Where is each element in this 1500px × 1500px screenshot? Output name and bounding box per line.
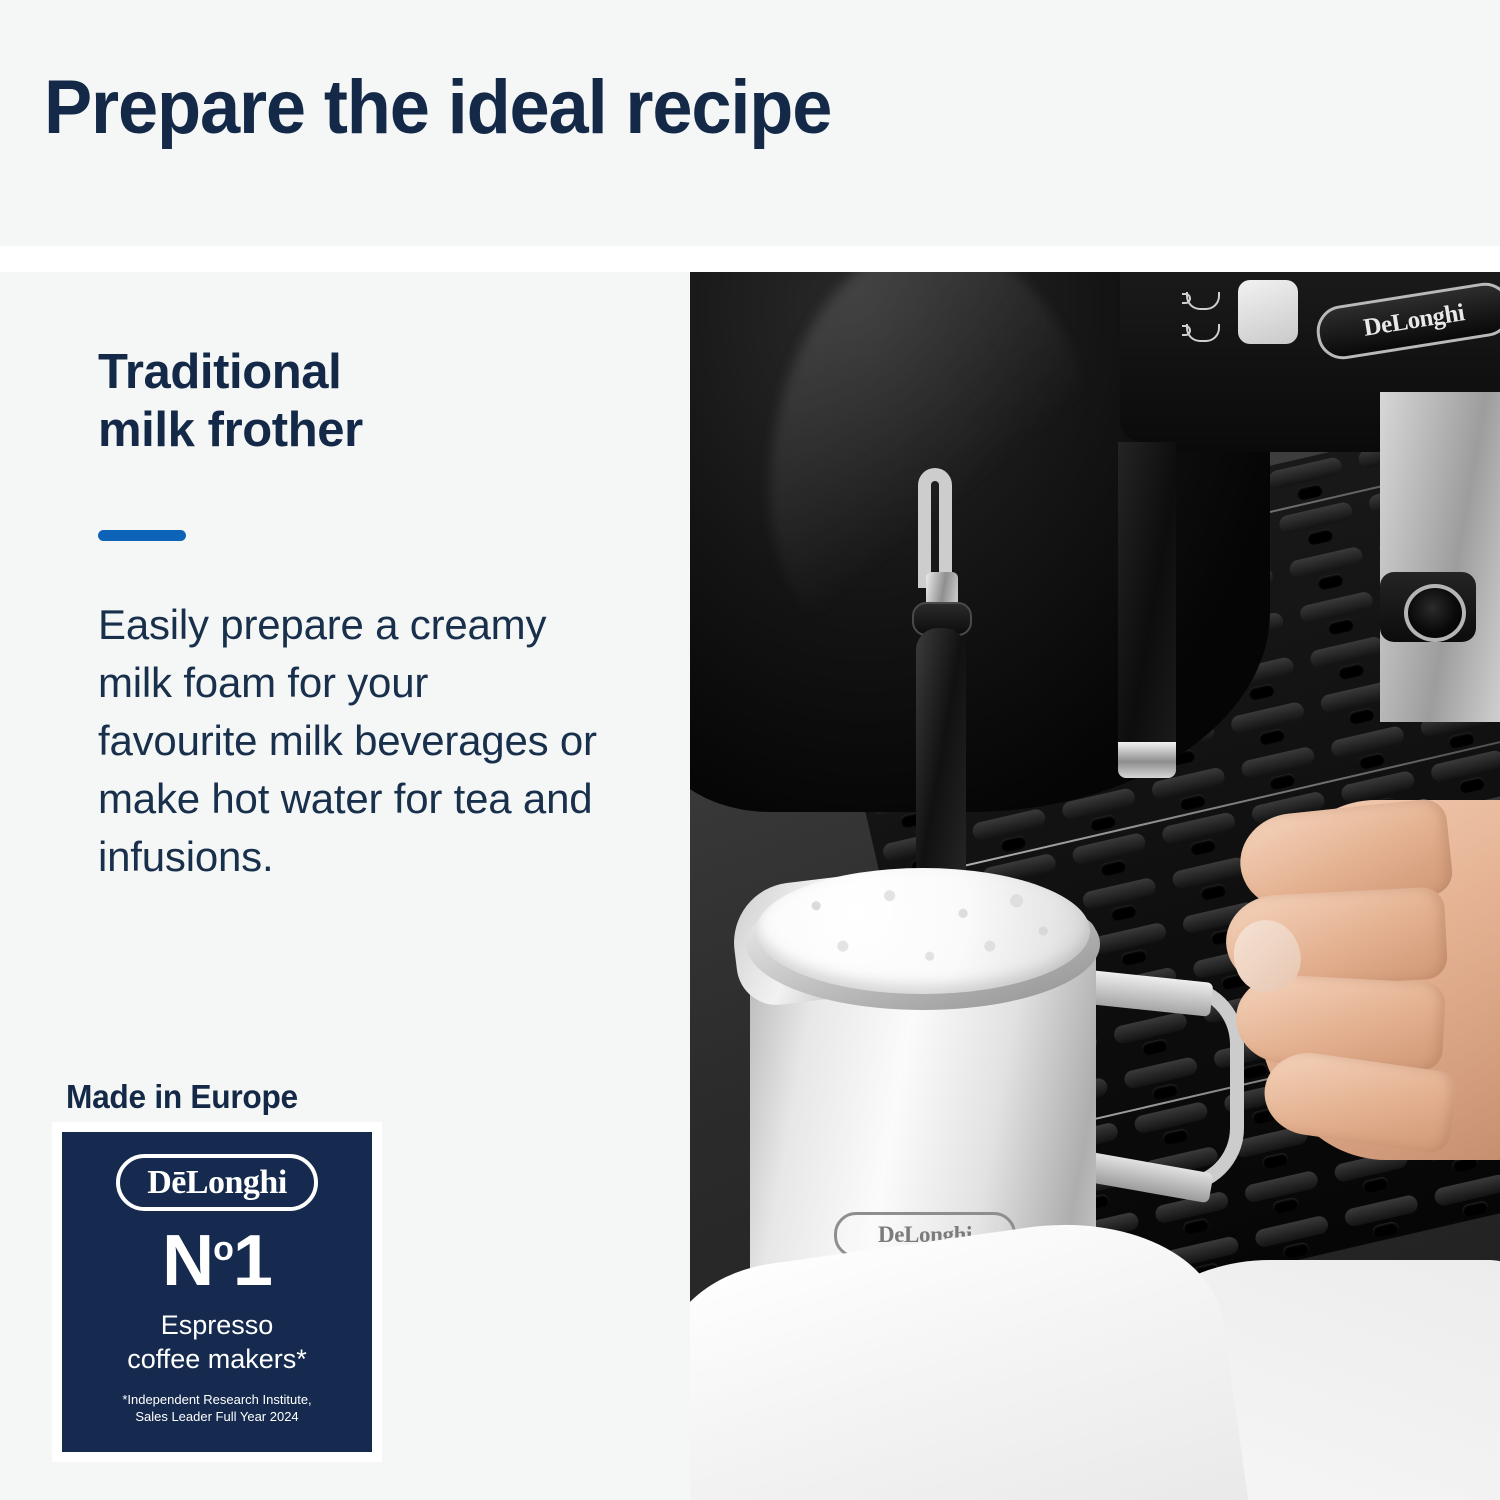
milk-foam: [756, 868, 1090, 994]
product-feature-page: Prepare the ideal recipe Traditional mil…: [0, 0, 1500, 1500]
badge-category: Espresso coffee makers*: [127, 1309, 307, 1377]
drip-tray-slot: [1337, 662, 1365, 681]
product-photo: DeLonghi DeLonghi: [690, 272, 1500, 1500]
drip-tray-slot: [1461, 1200, 1489, 1219]
drip-tray-slot: [1306, 528, 1334, 547]
header-band: Prepare the ideal recipe: [0, 0, 1500, 246]
feature-body-text: Easily prepare a creamy milk foam for yo…: [98, 596, 598, 886]
panel-button[interactable]: [1238, 280, 1298, 344]
badge-footnote-line1: *Independent Research Institute,: [122, 1391, 311, 1409]
accent-rule: [98, 530, 186, 541]
drip-tray-slot: [1316, 572, 1344, 591]
badge-rank-degree: o: [213, 1230, 233, 1268]
portafilter-socket[interactable]: [1404, 584, 1466, 642]
badge-rank: No1: [162, 1225, 272, 1297]
single-cup-icon[interactable]: [1186, 292, 1220, 310]
coffee-spout-chrome: [1118, 742, 1176, 778]
badge-category-line2: coffee makers*: [127, 1343, 307, 1377]
double-cup-icon[interactable]: [1186, 324, 1220, 342]
feature-text-column: Traditional milk frother Easily prepare …: [0, 272, 690, 1500]
machine-brand-plate: DeLonghi: [1313, 279, 1500, 363]
made-in-europe-label: Made in Europe: [66, 1078, 298, 1116]
badge-footnote: *Independent Research Institute, Sales L…: [122, 1391, 311, 1426]
feature-heading-line2: milk frother: [98, 402, 618, 460]
badge-category-line1: Espresso: [127, 1309, 307, 1343]
drip-tray-slot: [1327, 617, 1355, 636]
machine-brand-text: DeLonghi: [1362, 299, 1467, 343]
drip-tray-slot: [1182, 1217, 1210, 1236]
drip-tray-slot: [1372, 1221, 1400, 1240]
drip-tray-slot: [1258, 728, 1286, 747]
delonghi-logo-pill: DēLonghi: [116, 1154, 318, 1211]
drip-tray-slot: [1347, 707, 1375, 726]
feature-heading: Traditional milk frother: [98, 344, 618, 460]
drip-tray-slot: [1272, 1196, 1300, 1215]
badge-inner: DēLonghi No1 Espresso coffee makers* *In…: [62, 1132, 372, 1452]
steam-wand-arm: [918, 468, 952, 588]
badge-rank-number: 1: [233, 1221, 272, 1301]
no1-badge: DēLonghi No1 Espresso coffee makers* *In…: [52, 1122, 382, 1462]
badge-footnote-line2: Sales Leader Full Year 2024: [122, 1408, 311, 1426]
drip-tray-slot: [1247, 683, 1275, 702]
machine-side-panel: [1380, 392, 1500, 722]
hand-gripping-handle: [1210, 772, 1500, 1192]
drip-tray-slot: [1282, 1241, 1310, 1260]
coffee-spout-column: [1118, 442, 1176, 772]
page-title: Prepare the ideal recipe: [44, 68, 831, 148]
feature-heading-line1: Traditional: [98, 344, 618, 402]
badge-rank-letter: N: [162, 1221, 213, 1301]
delonghi-logo-text: DēLonghi: [147, 1166, 287, 1200]
milk-foam-texture: [756, 868, 1090, 994]
